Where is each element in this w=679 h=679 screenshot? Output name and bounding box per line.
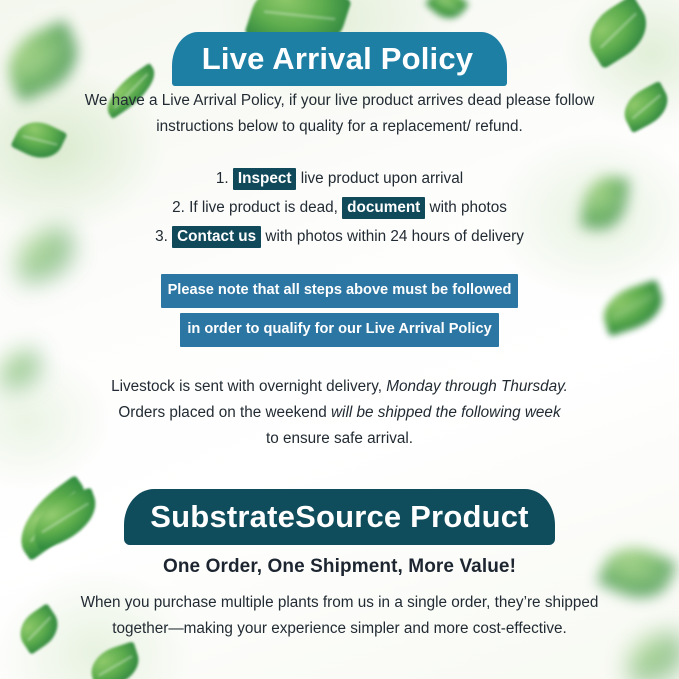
substratesource-product-banner: SubstrateSource Product — [0, 489, 679, 545]
step-number: 3. — [155, 228, 168, 245]
step-number: 2. — [172, 199, 185, 216]
policy-notice-block: Please note that all steps above must be… — [0, 274, 679, 347]
leaf-icon — [86, 641, 145, 679]
product-body-line-2: together—making your experience simpler … — [0, 616, 679, 642]
notice-line-1-wrap: Please note that all steps above must be… — [0, 274, 679, 308]
live-arrival-policy-title: Live Arrival Policy — [172, 32, 507, 86]
list-item: 1. Inspect live product upon arrival — [0, 164, 679, 193]
notice-line-1: Please note that all steps above must be… — [161, 274, 519, 308]
live-arrival-policy-banner: Live Arrival Policy — [0, 32, 679, 86]
live-arrival-policy-infographic: Live Arrival Policy We have a Live Arriv… — [0, 0, 679, 679]
shipping-line-3: to ensure safe arrival. — [0, 426, 679, 452]
step-post-text: with photos within 24 hours of delivery — [261, 228, 524, 245]
step-highlight: Contact us — [172, 226, 261, 248]
step-pre-text: If live product is dead, — [189, 199, 342, 216]
shipping-line-2-emphasis: will be shipped the following week — [331, 404, 561, 421]
product-subheading: One Order, One Shipment, More Value! — [0, 556, 679, 578]
shipping-line-2: Orders placed on the weekend will be shi… — [0, 400, 679, 426]
shipping-line-1-a: Livestock is sent with overnight deliver… — [111, 378, 386, 395]
policy-intro-line-1: We have a Live Arrival Policy, if your l… — [0, 88, 679, 114]
step-highlight: Inspect — [233, 168, 297, 190]
notice-line-2-wrap: in order to qualify for our Live Arrival… — [0, 313, 679, 347]
policy-intro-line-1-b: , if your live product arrives dead plea… — [281, 92, 595, 109]
policy-intro-paragraph: We have a Live Arrival Policy, if your l… — [0, 88, 679, 140]
notice-line-2: in order to qualify for our Live Arrival… — [180, 313, 498, 347]
step-post-text: with photos — [425, 199, 507, 216]
step-number: 1. — [216, 170, 229, 187]
shipping-line-1: Livestock is sent with overnight deliver… — [0, 374, 679, 400]
policy-intro-line-2: instructions below to quality for a repl… — [0, 114, 679, 140]
shipping-paragraph: Livestock is sent with overnight deliver… — [0, 374, 679, 452]
step-highlight: document — [342, 197, 425, 219]
product-body-paragraph: When you purchase multiple plants from u… — [0, 590, 679, 642]
list-item: 2. If live product is dead, document wit… — [0, 193, 679, 222]
policy-steps-list: 1. Inspect live product upon arrival 2. … — [0, 164, 679, 251]
step-post-text: live product upon arrival — [296, 170, 463, 187]
shipping-line-2-a: Orders placed on the weekend — [118, 404, 331, 421]
leaf-icon — [425, 0, 469, 26]
shipping-line-1-emphasis: Monday through Thursday. — [386, 378, 568, 395]
substratesource-product-title: SubstrateSource Product — [124, 489, 554, 545]
list-item: 3. Contact us with photos within 24 hour… — [0, 222, 679, 251]
policy-intro-line-1-a: We have a Live Arrival Policy — [85, 92, 281, 109]
product-body-line-1: When you purchase multiple plants from u… — [0, 590, 679, 616]
